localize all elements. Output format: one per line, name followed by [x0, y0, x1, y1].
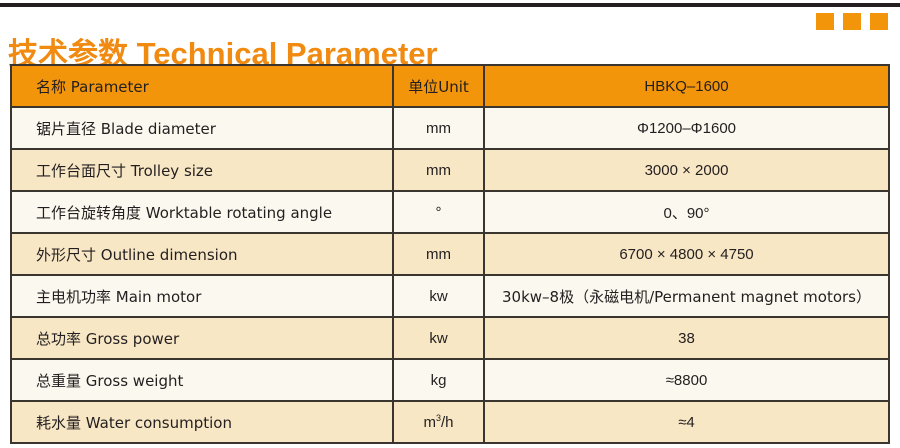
decor-square-3 [870, 13, 888, 30]
cell-value: ≈4 [484, 401, 889, 443]
column-header-unit: 单位Unit [393, 65, 484, 107]
table-row: 工作台面尺寸 Trolley size mm 3000 × 2000 [11, 149, 889, 191]
cell-unit: mm [393, 233, 484, 275]
table-row: 总功率 Gross power kw 38 [11, 317, 889, 359]
unit-tail: /h [441, 414, 454, 431]
decor-square-2 [843, 13, 861, 30]
table-row: 耗水量 Water consumption m3/h ≈4 [11, 401, 889, 443]
cell-parameter: 总重量 Gross weight [11, 359, 393, 401]
cell-value: 30kw–8极（永磁电机/Permanent magnet motors） [484, 275, 889, 317]
cell-unit: ° [393, 191, 484, 233]
decorative-squares [816, 13, 888, 30]
table-row: 锯片直径 Blade diameter mm Φ1200–Φ1600 [11, 107, 889, 149]
cell-value: 0、90° [484, 191, 889, 233]
table-header-row: 名称 Parameter 单位Unit HBKQ–1600 [11, 65, 889, 107]
cell-value: 38 [484, 317, 889, 359]
cell-parameter: 主电机功率 Main motor [11, 275, 393, 317]
column-header-model: HBKQ–1600 [484, 65, 889, 107]
column-header-parameter: 名称 Parameter [11, 65, 393, 107]
table-body: 锯片直径 Blade diameter mm Φ1200–Φ1600 工作台面尺… [11, 107, 889, 443]
cell-unit-volumetric: m3/h [393, 401, 484, 443]
cell-value: 3000 × 2000 [484, 149, 889, 191]
decor-square-1 [816, 13, 834, 30]
table-row: 主电机功率 Main motor kw 30kw–8极（永磁电机/Permane… [11, 275, 889, 317]
cell-value: Φ1200–Φ1600 [484, 107, 889, 149]
cell-unit: mm [393, 107, 484, 149]
cell-unit: kg [393, 359, 484, 401]
cell-parameter: 总功率 Gross power [11, 317, 393, 359]
cell-parameter: 耗水量 Water consumption [11, 401, 393, 443]
unit-base: m [423, 414, 436, 431]
cell-parameter: 外形尺寸 Outline dimension [11, 233, 393, 275]
cell-unit: kw [393, 275, 484, 317]
cell-value: ≈8800 [484, 359, 889, 401]
cell-parameter: 工作台旋转角度 Worktable rotating angle [11, 191, 393, 233]
table-row: 总重量 Gross weight kg ≈8800 [11, 359, 889, 401]
top-rule [0, 3, 900, 7]
cell-unit: mm [393, 149, 484, 191]
table-row: 外形尺寸 Outline dimension mm 6700 × 4800 × … [11, 233, 889, 275]
cell-parameter: 锯片直径 Blade diameter [11, 107, 393, 149]
table-row: 工作台旋转角度 Worktable rotating angle ° 0、90° [11, 191, 889, 233]
specification-table-container: 名称 Parameter 单位Unit HBKQ–1600 锯片直径 Blade… [10, 64, 888, 444]
cell-parameter: 工作台面尺寸 Trolley size [11, 149, 393, 191]
table-header: 名称 Parameter 单位Unit HBKQ–1600 [11, 65, 889, 107]
cell-unit: kw [393, 317, 484, 359]
specification-table: 名称 Parameter 单位Unit HBKQ–1600 锯片直径 Blade… [10, 64, 890, 444]
cell-value: 6700 × 4800 × 4750 [484, 233, 889, 275]
